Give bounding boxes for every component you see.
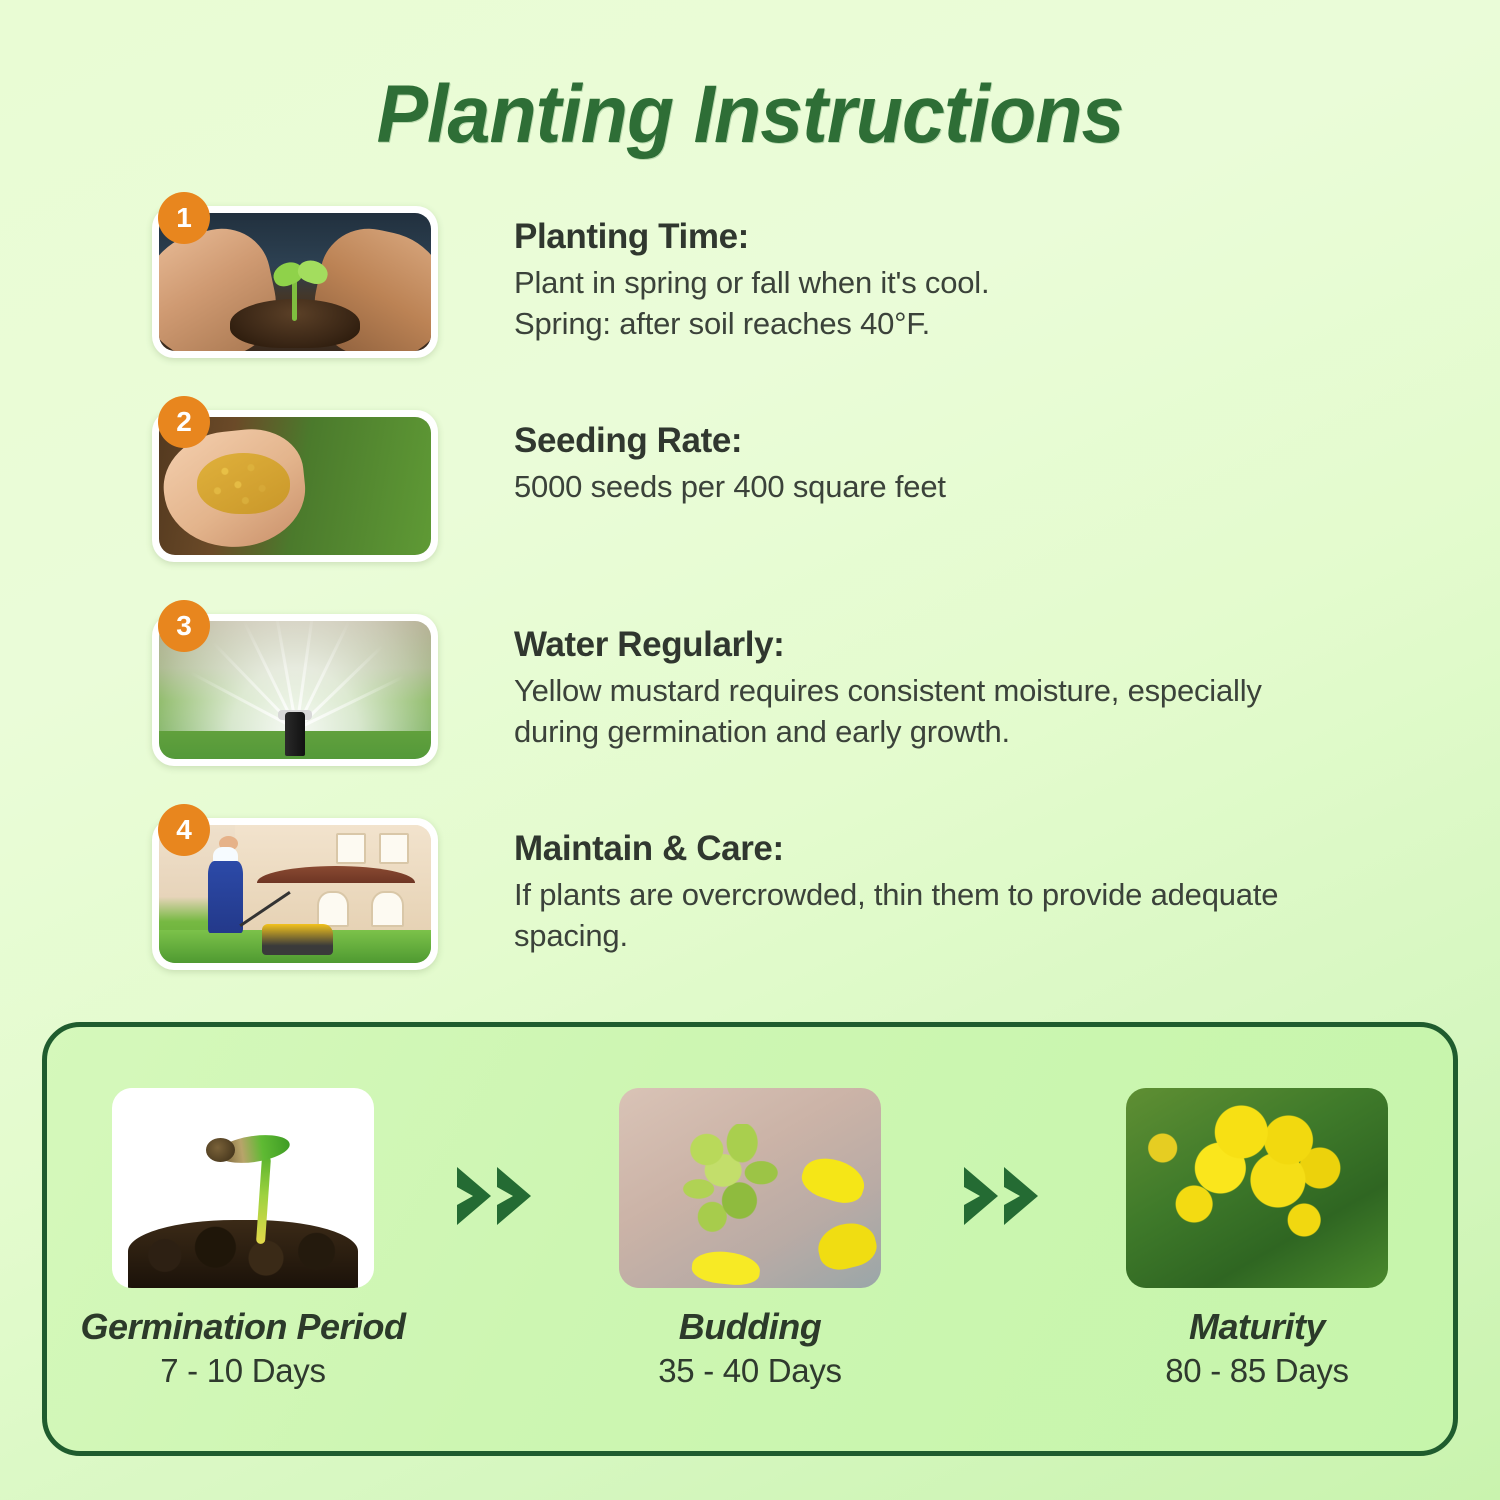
step-number-badge: 1 bbox=[158, 192, 210, 244]
stage-maturity: Maturity 80 - 85 Days bbox=[1107, 1088, 1407, 1390]
growth-stages-panel: Germination Period 7 - 10 Days Budding 3… bbox=[42, 1022, 1458, 1456]
step-text: Planting Time: Plant in spring or fall w… bbox=[452, 192, 1440, 345]
step-heading: Seeding Rate: bbox=[514, 420, 1440, 463]
steps-list: 1 Planting Time: Plant in spring or fall… bbox=[0, 192, 1500, 986]
step-body: If plants are overcrowded, thin them to … bbox=[514, 875, 1440, 957]
budding-image bbox=[619, 1088, 881, 1288]
step-body-line: spacing. bbox=[514, 916, 1440, 957]
step-body: Yellow mustard requires consistent moist… bbox=[514, 671, 1440, 753]
maturity-image bbox=[1126, 1088, 1388, 1288]
step-item: 3 bbox=[152, 600, 1440, 782]
step-body: 5000 seeds per 400 square feet bbox=[514, 467, 1440, 508]
step-heading: Water Regularly: bbox=[514, 624, 1440, 667]
step-heading: Maintain & Care: bbox=[514, 828, 1440, 871]
step-text: Maintain & Care: If plants are overcrowd… bbox=[452, 804, 1440, 957]
stage-budding: Budding 35 - 40 Days bbox=[600, 1088, 900, 1390]
step-text: Water Regularly: Yellow mustard requires… bbox=[452, 600, 1440, 753]
page-title: Planting Instructions bbox=[45, 74, 1455, 156]
step-body: Plant in spring or fall when it's cool. … bbox=[514, 263, 1440, 345]
step-item: 2 Seeding Rate: 5000 seeds per 400 squar… bbox=[152, 396, 1440, 578]
double-chevron-right-icon bbox=[442, 1161, 552, 1231]
step-heading: Planting Time: bbox=[514, 216, 1440, 259]
step-thumbnail-wrapper: 3 bbox=[152, 600, 452, 766]
step-text: Seeding Rate: 5000 seeds per 400 square … bbox=[452, 396, 1440, 508]
double-chevron-right-icon bbox=[949, 1161, 1059, 1231]
stage-days: 80 - 85 Days bbox=[1165, 1352, 1349, 1390]
step-body-line: during germination and early growth. bbox=[514, 712, 1440, 753]
step-number-badge: 4 bbox=[158, 804, 210, 856]
stage-name: Germination Period bbox=[80, 1306, 405, 1348]
step-body-line: Yellow mustard requires consistent moist… bbox=[514, 671, 1440, 712]
step-thumbnail-wrapper: 1 bbox=[152, 192, 452, 358]
stage-name: Budding bbox=[679, 1306, 821, 1348]
step-item: 1 Planting Time: Plant in spring or fall… bbox=[152, 192, 1440, 374]
step-number-badge: 3 bbox=[158, 600, 210, 652]
step-body-line: 5000 seeds per 400 square feet bbox=[514, 467, 1440, 508]
step-body-line: Plant in spring or fall when it's cool. bbox=[514, 263, 1440, 304]
step-body-line: Spring: after soil reaches 40°F. bbox=[514, 304, 1440, 345]
step-thumbnail-wrapper: 4 bbox=[152, 804, 452, 970]
stage-days: 35 - 40 Days bbox=[658, 1352, 842, 1390]
header: Planting Instructions bbox=[0, 0, 1500, 156]
step-body-line: If plants are overcrowded, thin them to … bbox=[514, 875, 1440, 916]
step-thumbnail-wrapper: 2 bbox=[152, 396, 452, 562]
stage-germination: Germination Period 7 - 10 Days bbox=[93, 1088, 393, 1390]
stage-name: Maturity bbox=[1189, 1306, 1325, 1348]
step-item: 4 bbox=[152, 804, 1440, 986]
stage-days: 7 - 10 Days bbox=[160, 1352, 325, 1390]
germination-image bbox=[112, 1088, 374, 1288]
step-number-badge: 2 bbox=[158, 396, 210, 448]
